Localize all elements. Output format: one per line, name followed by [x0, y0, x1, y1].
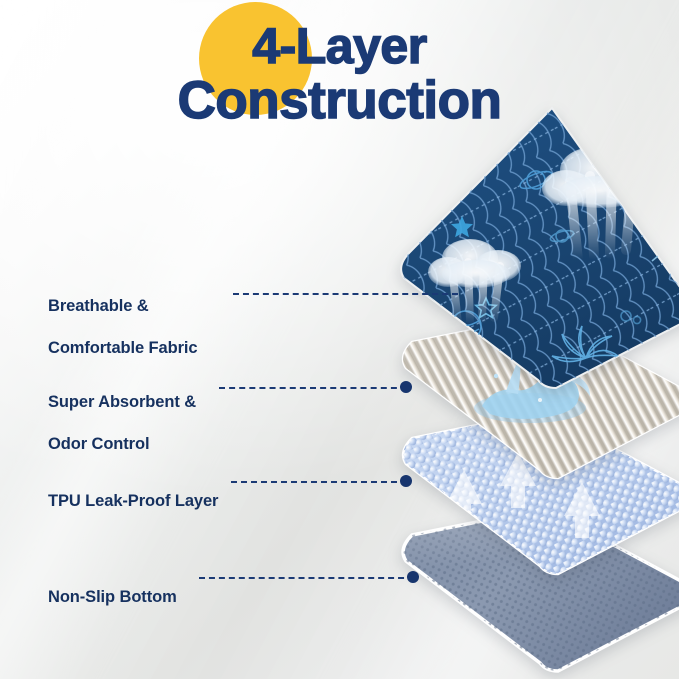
layer-3-label-line-1: TPU Leak-Proof Layer	[48, 492, 218, 510]
page-title: 4-Layer Construction	[0, 22, 679, 127]
layer-3-leader-line	[231, 481, 407, 483]
layer-2-leader-dot	[400, 381, 412, 393]
rocket-icon	[652, 241, 679, 261]
layer-1-leader-line	[233, 293, 458, 295]
layer-3-leader-dot	[400, 475, 412, 487]
title-line-2: Construction	[0, 75, 679, 127]
layer-2-label-line-2: Odor Control	[48, 435, 149, 453]
layer-4-label-line-1: Non-Slip Bottom	[48, 588, 177, 606]
layer-1-label-line-2: Comfortable Fabric	[48, 339, 197, 357]
layer-3-label: TPU Leak-Proof Layer	[48, 470, 218, 512]
layer-2-label: Super Absorbent & Odor Control	[48, 371, 196, 455]
layer-1-label: Breathable & Comfortable Fabric	[48, 275, 197, 359]
star-icon	[422, 360, 439, 376]
title-line-1: 4-Layer	[0, 22, 679, 71]
layer-4-label: Non-Slip Bottom	[48, 566, 177, 608]
layer-4-leader-line	[199, 577, 414, 579]
product-feature-infographic: 4-Layer Construction Breathable & Comfor…	[0, 0, 679, 679]
layer-1-label-line-1: Breathable &	[48, 297, 149, 315]
layer-2-leader-line	[219, 387, 407, 389]
layer-4-leader-dot	[407, 571, 419, 583]
planet-icon	[630, 195, 653, 208]
header: 4-Layer Construction	[0, 0, 679, 160]
layer-2-label-line-1: Super Absorbent &	[48, 393, 196, 411]
